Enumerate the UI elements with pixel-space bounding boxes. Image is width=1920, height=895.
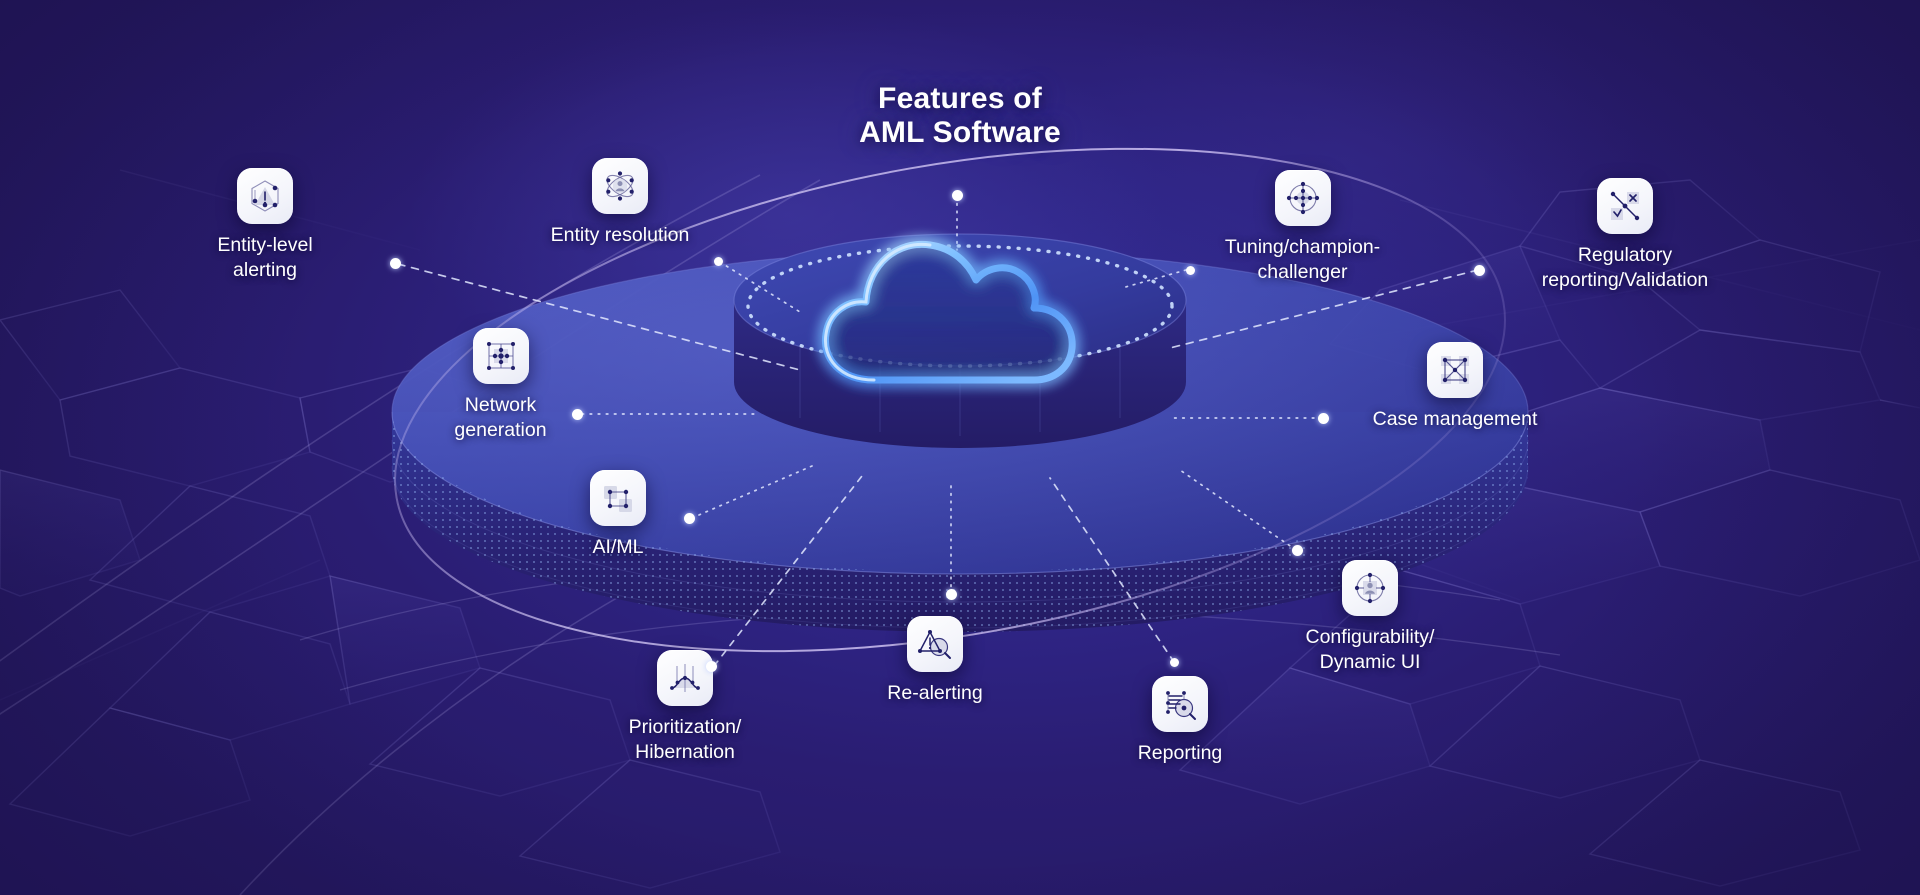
feature-label: Re-alerting (840, 681, 1030, 706)
feature-regulatory-reporting-validation[interactable]: Regulatory reporting/Validation (1490, 178, 1760, 293)
feature-re-alerting[interactable]: Re-alerting (840, 616, 1030, 706)
feature-label: Configurability/ Dynamic UI (1260, 625, 1480, 675)
feature-reporting[interactable]: Reporting (1090, 676, 1270, 766)
connector-dot-ai-ml (684, 513, 695, 524)
feature-tuning-champion-challenger[interactable]: Tuning/champion- challenger (1190, 170, 1415, 285)
connector-dot-regulatory-reporting-validation (1474, 265, 1485, 276)
feature-network-generation[interactable]: Network generation (413, 328, 588, 443)
feature-prioritization-hibernation[interactable]: Prioritization/ Hibernation (580, 650, 790, 765)
connector-dot-configurability-dynamic-ui (1292, 545, 1303, 556)
infographic-canvas: Features of AML Software Entity-l (0, 0, 1920, 895)
feature-label: Case management (1330, 407, 1580, 432)
alert-magnifier-icon (907, 616, 963, 672)
feature-entity-resolution[interactable]: Entity resolution (530, 158, 710, 248)
feature-label: Entity resolution (530, 223, 710, 248)
connector-dot-entity-resolution (714, 257, 723, 266)
node-grid-icon (473, 328, 529, 384)
cross-network-square-icon (1427, 342, 1483, 398)
feature-label: AI/ML (558, 535, 678, 560)
connector-dot-reporting (1170, 658, 1179, 667)
connector-dot-tuning-champion-challenger (1186, 266, 1195, 275)
person-orbit-icon (1342, 560, 1398, 616)
connector-dot-re-alerting (946, 589, 957, 600)
feature-ai-ml[interactable]: AI/ML (558, 470, 678, 560)
hexagon-alert-network-icon (237, 168, 293, 224)
cloud-icon (800, 212, 1110, 412)
report-magnifier-icon (1152, 676, 1208, 732)
connector-dot-case-management (1318, 413, 1329, 424)
feature-label: Entity-level alerting (170, 233, 360, 283)
atom-person-icon (592, 158, 648, 214)
connector-dot-center (952, 190, 963, 201)
feature-case-management[interactable]: Case management (1330, 342, 1580, 432)
feature-label: Prioritization/ Hibernation (580, 715, 790, 765)
connector-lines (0, 0, 1920, 895)
connector-dot-entity-level-alerting (390, 258, 401, 269)
feature-label: Tuning/champion- challenger (1190, 235, 1415, 285)
feature-label: Reporting (1090, 741, 1270, 766)
connector-dot-prioritization-hibernation (706, 661, 717, 672)
feature-label: Network generation (413, 393, 588, 443)
feature-entity-level-alerting[interactable]: Entity-level alerting (170, 168, 360, 283)
connector-dot-network-generation (572, 409, 583, 420)
feature-label: Regulatory reporting/Validation (1490, 243, 1760, 293)
bell-curve-icon (657, 650, 713, 706)
target-crosshair-icon (1275, 170, 1331, 226)
ai-nodes-squares-icon (590, 470, 646, 526)
feature-configurability-dynamic-ui[interactable]: Configurability/ Dynamic UI (1260, 560, 1480, 675)
check-cross-diagonal-icon (1597, 178, 1653, 234)
